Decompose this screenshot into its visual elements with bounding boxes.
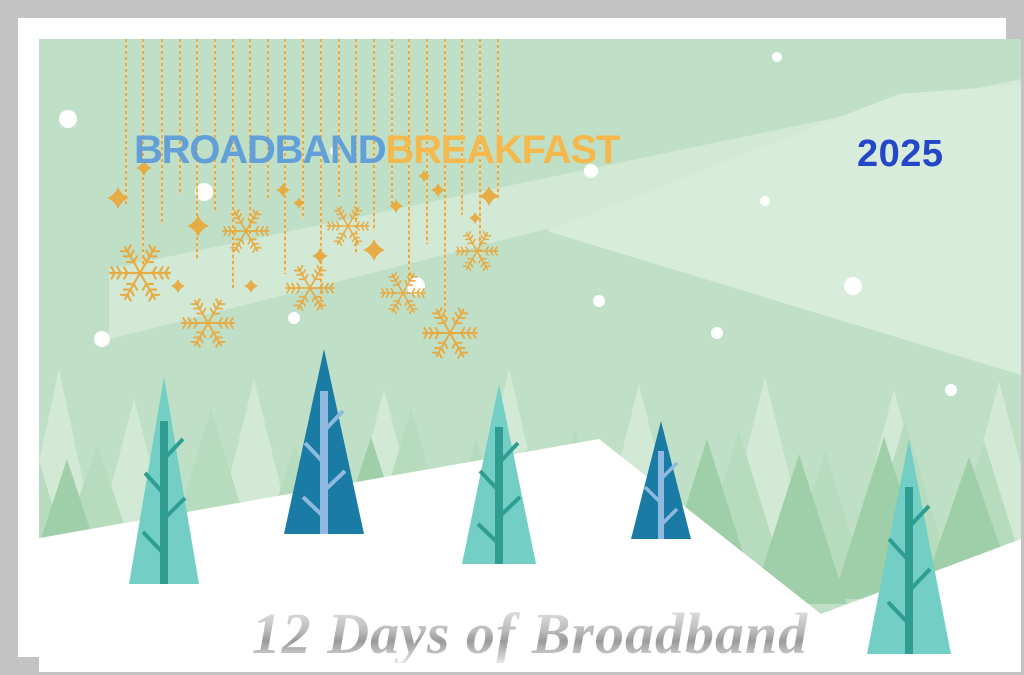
tree-teal-left xyxy=(129,377,199,584)
tree-teal-center xyxy=(462,384,536,564)
snowflake-ornament-icon xyxy=(109,242,171,304)
snowflake-ornament-icon xyxy=(285,263,335,313)
logo-word-breakfast: BREAKFAST xyxy=(385,128,619,172)
poster-inner-frame: BROADBANDBREAKFAST 2025 12 Days of Broad… xyxy=(18,18,1006,657)
snowflake-ornament-icon xyxy=(222,207,270,255)
sparkle-ornament-icon xyxy=(469,212,481,224)
logo-word-broadband: BROADBAND xyxy=(134,128,385,172)
sparkle-ornament-icon xyxy=(363,239,385,261)
sparkle-ornament-icon xyxy=(389,199,403,213)
poster-canvas: BROADBANDBREAKFAST 2025 12 Days of Broad… xyxy=(0,0,1024,675)
poster-title: 12 Days of Broadband xyxy=(39,605,1021,663)
snowflake-ornament-icon xyxy=(380,270,426,316)
snowflake-ornament-icon xyxy=(455,229,499,273)
sparkle-ornament-icon xyxy=(171,279,185,293)
sparkle-ornament-icon xyxy=(187,215,209,237)
sparkle-ornament-icon xyxy=(312,248,328,264)
sparkle-ornament-icon xyxy=(244,279,258,293)
year-label: 2025 xyxy=(857,135,944,173)
sparkle-ornament-icon xyxy=(276,183,290,197)
sparkle-ornament-icon xyxy=(431,183,445,197)
tree-blue-left xyxy=(284,349,364,534)
snowflake-ornament-icon xyxy=(422,305,478,361)
sparkle-ornament-icon xyxy=(293,197,305,209)
sparkle-ornament-icon xyxy=(107,187,129,209)
brand-logo: BROADBANDBREAKFAST xyxy=(134,130,619,170)
snowflake-ornament-icon xyxy=(181,296,235,350)
poster-artwork: BROADBANDBREAKFAST 2025 12 Days of Broad… xyxy=(39,39,1021,672)
sparkle-ornament-icon xyxy=(479,186,499,206)
tree-blue-right xyxy=(631,421,691,539)
